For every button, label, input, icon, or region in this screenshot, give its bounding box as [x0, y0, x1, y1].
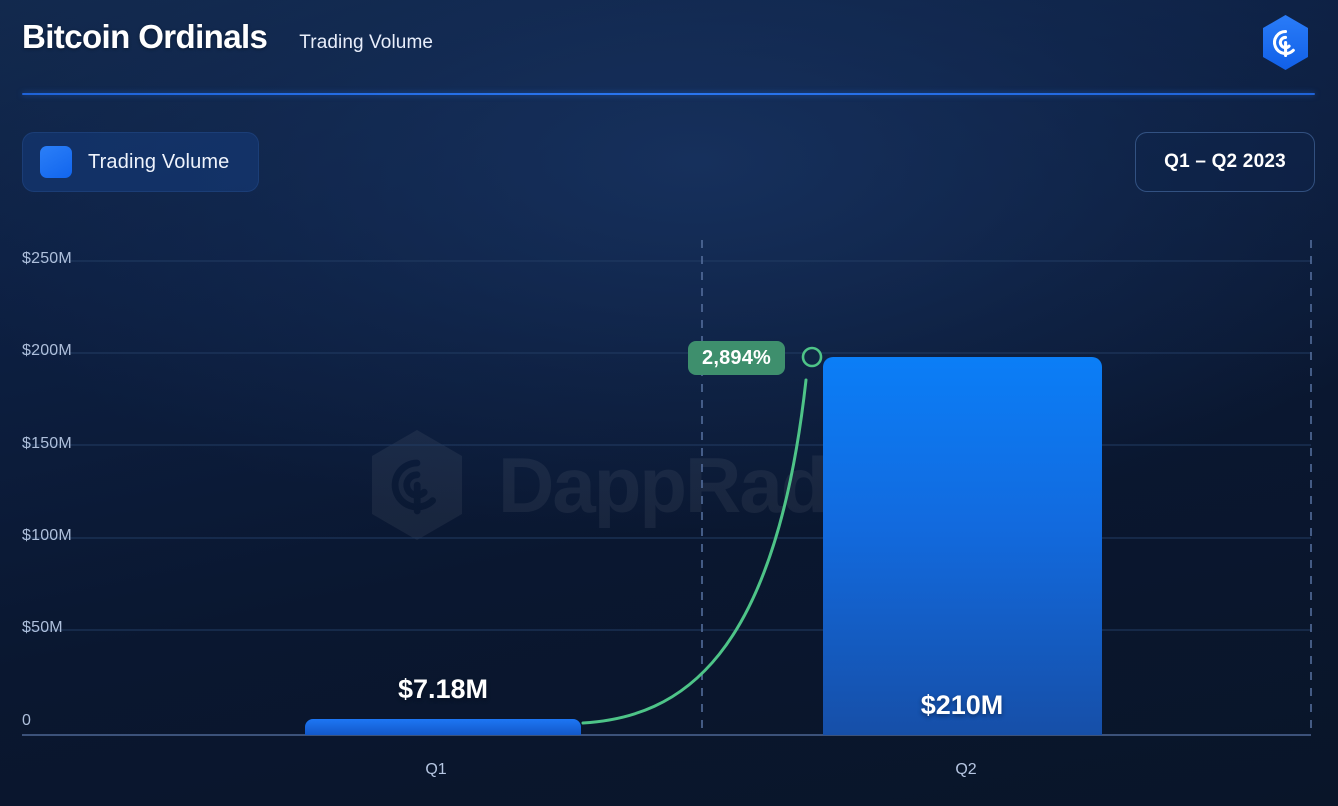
chart-plot-area: DappRadar: [0, 230, 1338, 806]
y-tick-150m: $150M: [22, 435, 72, 453]
y-tick-200m: $200M: [22, 342, 72, 360]
bar-value-label-q2: $210M: [921, 690, 1004, 721]
bar-q1: [305, 719, 581, 735]
header-divider: [22, 93, 1315, 95]
legend-color-swatch-icon: [40, 146, 72, 178]
y-tick-50m: $50M: [22, 619, 63, 637]
y-tick-100m: $100M: [22, 527, 72, 545]
date-range-badge[interactable]: Q1 – Q2 2023: [1135, 132, 1315, 192]
chart-canvas: [0, 230, 1338, 806]
page-title: Bitcoin Ordinals: [22, 18, 267, 56]
x-tick-q2: Q2: [955, 761, 976, 779]
page-subtitle: Trading Volume: [299, 32, 433, 54]
header: Bitcoin Ordinals Trading Volume: [0, 0, 1338, 95]
legend-label: Trading Volume: [88, 151, 229, 174]
y-tick-0: 0: [22, 712, 31, 730]
chart-screenshot-root: Bitcoin Ordinals Trading Volume: [0, 0, 1338, 806]
dappradar-hex-logo-icon: [1256, 13, 1315, 72]
gridlines: [22, 261, 1311, 630]
bar-value-label-q1: $7.18M: [398, 674, 488, 705]
growth-percentage-badge: 2,894%: [688, 341, 785, 375]
title-row: Bitcoin Ordinals Trading Volume: [22, 18, 433, 56]
growth-curve-endpoint-marker: [803, 348, 821, 366]
bar-q2: [823, 357, 1102, 735]
x-tick-q1: Q1: [425, 761, 446, 779]
growth-curve: [583, 380, 806, 723]
y-tick-250m: $250M: [22, 250, 72, 268]
legend-trading-volume[interactable]: Trading Volume: [22, 132, 259, 192]
